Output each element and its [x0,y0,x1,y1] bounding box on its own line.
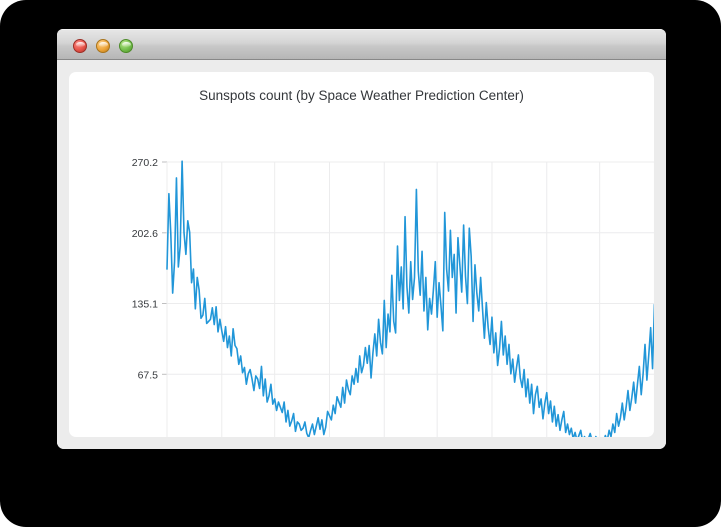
close-button[interactable] [73,39,87,53]
chart-panel: Sunspots count (by Space Weather Predict… [69,72,654,437]
sunspots-data-line [167,161,654,437]
window-content-area: Sunspots count (by Space Weather Predict… [57,60,666,449]
y-axis-tick-label: 270.2 [132,157,158,169]
application-window: Sunspots count (by Space Weather Predict… [57,29,666,449]
minimize-button-gloss [99,42,108,47]
window-titlebar[interactable] [57,29,666,60]
sunspots-line-chart: 270.2202.6135.167.50.0Jan 1991Jun 1993Oc… [69,72,654,437]
maximize-button-gloss [122,42,131,47]
y-axis-tick-label: 135.1 [132,299,158,311]
y-axis-tick-label: 67.5 [138,369,159,381]
y-axis-tick-label: 202.6 [132,228,158,240]
maximize-button[interactable] [119,39,133,53]
minimize-button[interactable] [96,39,110,53]
close-button-gloss [76,42,85,47]
screenshot-root: Sunspots count (by Space Weather Predict… [0,0,721,527]
